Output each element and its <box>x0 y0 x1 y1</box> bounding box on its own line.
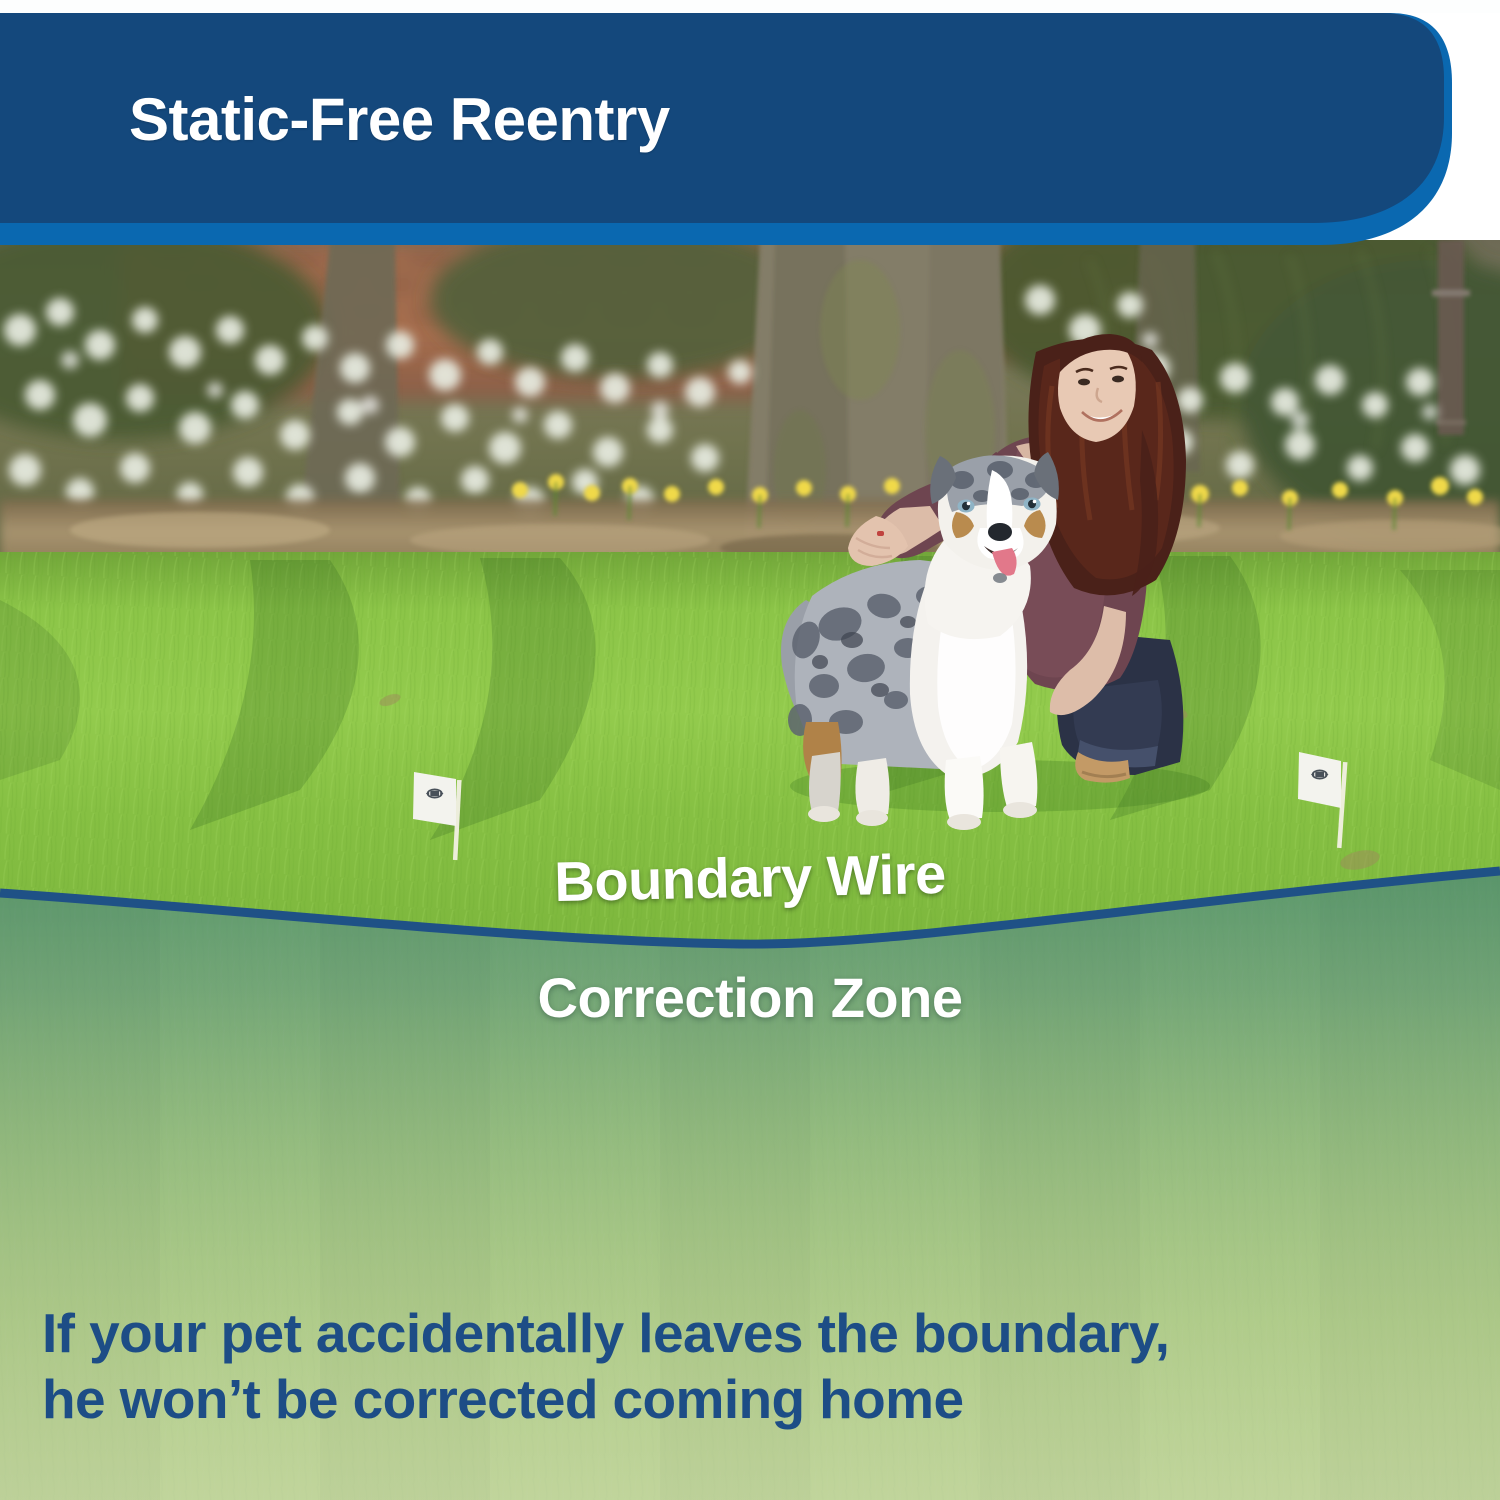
page-title: Static-Free Reentry <box>129 88 670 151</box>
correction-zone-label: Correction Zone <box>0 965 1500 1030</box>
feature-caption: If your pet accidentally leaves the boun… <box>42 1300 1462 1432</box>
marketing-feature-panel: Static-Free Reentry Boundary Wire Correc… <box>0 0 1500 1500</box>
caption-line-2: he won’t be corrected coming home <box>42 1366 1462 1432</box>
caption-line-1: If your pet accidentally leaves the boun… <box>42 1300 1462 1366</box>
top-white-edge <box>0 0 1500 13</box>
